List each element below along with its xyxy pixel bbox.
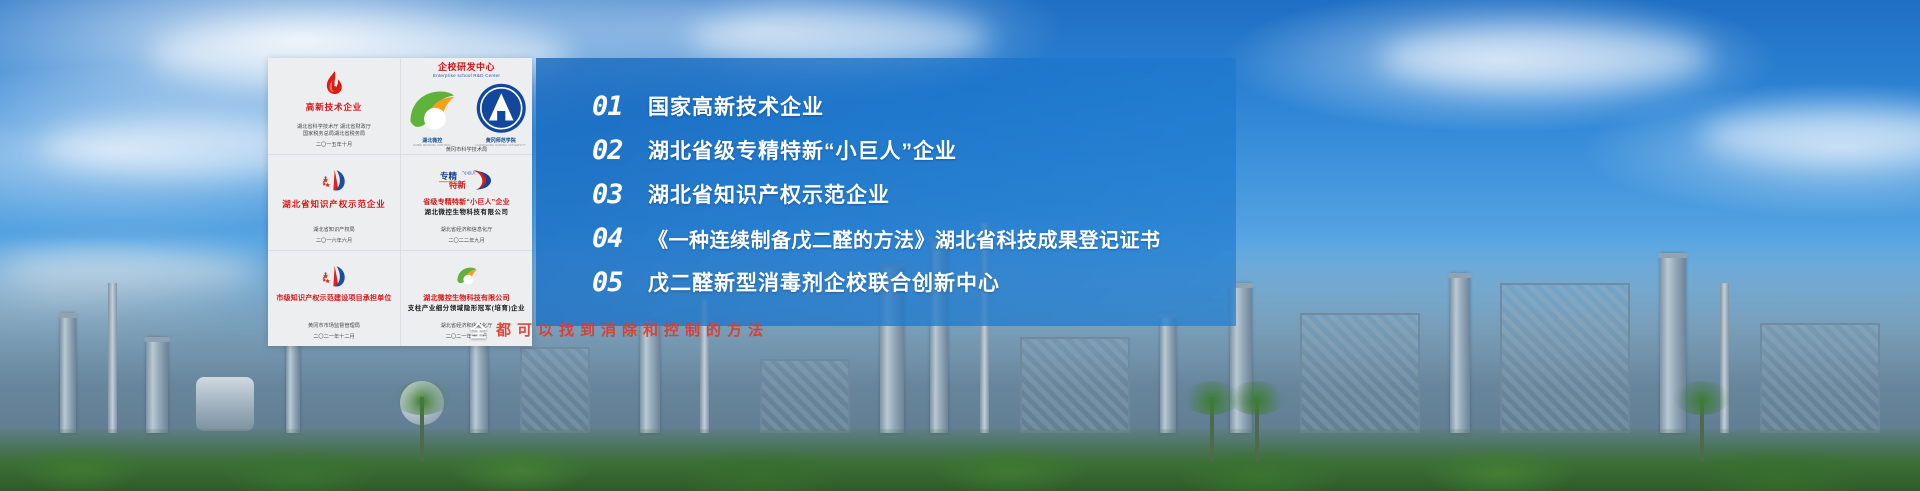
certificate-subtitle: 湖北微控生物科技有限公司 (425, 209, 509, 218)
honor-item-03[interactable]: 03 湖北省知识产权示范企业 (592, 172, 1226, 216)
honor-label: 国家高新技术企业 (648, 91, 824, 121)
pipe-rack (1020, 337, 1130, 433)
certificate-title: 湖北微控生物科技有限公司 (423, 295, 509, 304)
honors-panel: 01 国家高新技术企业 02 湖北省级专精特新“小巨人”企业 03 湖北省知识产… (536, 58, 1236, 326)
honor-item-01[interactable]: 01 国家高新技术企业 (592, 84, 1226, 128)
smoke-stack (1720, 283, 1729, 433)
huanggang-normal-university-caption: 黄冈师范学院 (474, 137, 529, 144)
distillation-tower (1450, 273, 1470, 433)
intellectual-property-icon (319, 163, 349, 197)
honor-number: 03 (592, 181, 648, 208)
certificate-date: 二〇二一年十二月 (313, 334, 355, 342)
honor-label: 湖北省级专精特新“小巨人”企业 (648, 135, 957, 165)
hubei-weikong-logo-icon (455, 259, 479, 293)
cloud-wisp (1380, 28, 1710, 88)
certificate-card-city-ip-project[interactable]: 市级知识产权示范建设项目承担单位 黄冈市市场监督管理局 二〇二一年十二月 (268, 250, 400, 346)
certificate-title: 市级知识产权示范建设项目承担单位 (276, 295, 391, 304)
huanggang-normal-university-icon (474, 81, 529, 136)
distillation-tower (60, 313, 76, 433)
certificate-title: 湖北省知识产权示范企业 (282, 199, 385, 210)
honor-item-02[interactable]: 02 湖北省级专精特新“小巨人”企业 (592, 128, 1226, 172)
promo-banner: 高新技术企业 湖北省科学技术厅 湖北省财政厅 国家税务总局湖北省税务局 二〇一五… (0, 0, 1920, 491)
high-tech-flame-icon (321, 66, 347, 100)
palm-tree (1700, 397, 1704, 461)
certificate-issuer: 黄冈市市场监督管理局 (308, 323, 360, 334)
honor-number: 02 (592, 137, 648, 164)
distillation-tower (146, 337, 168, 433)
honor-number: 05 (592, 269, 648, 296)
svg-text:"小巨人": "小巨人" (462, 170, 478, 176)
certificate-issuer: 湖北省知识产权局 (313, 227, 355, 238)
honor-number: 04 (592, 225, 648, 252)
certificate-card-ip-model[interactable]: 湖北省知识产权示范企业 湖北省知识产权局 二〇一六年六月 (268, 154, 400, 250)
pipe-rack (1300, 313, 1420, 433)
certificate-date: 二〇一五年十月 (316, 142, 352, 150)
storage-tank (196, 377, 254, 431)
certificate-grid: 高新技术企业 湖北省科学技术厅 湖北省财政厅 国家税务总局湖北省税务局 二〇一五… (268, 58, 532, 346)
pipe-rack (1500, 283, 1630, 433)
palm-tree (1210, 397, 1214, 461)
certificate-subtitle: 支柱产业细分领域隐形冠军(培育)企业 (408, 305, 525, 314)
vegetation-row (0, 429, 1920, 491)
honor-item-04[interactable]: 04 《一种连续制备戊二醛的方法》湖北省科技成果登记证书 (592, 216, 1226, 260)
rd-center-title: 企校研发中心 (438, 63, 495, 72)
pipe-rack (760, 359, 850, 433)
rd-center-logo-row: 湖北微控 HUBEI MICROAL CONTROL 黄冈师范学院 HUANGG… (405, 81, 528, 147)
certificate-card-high-tech[interactable]: 高新技术企业 湖北省科学技术厅 湖北省财政厅 国家税务总局湖北省税务局 二〇一五… (268, 58, 400, 154)
svg-text:专精: 专精 (440, 171, 458, 182)
certificate-card-little-giant[interactable]: 专精 特新 "小巨人" 省级专精特新“小巨人”企业 湖北微控生物科技有限公司 湖… (400, 154, 532, 250)
honors-list: 01 国家高新技术企业 02 湖北省级专精特新“小巨人”企业 03 湖北省知识产… (592, 84, 1226, 304)
palm-tree (420, 397, 424, 461)
certificate-issuer: 湖北省经济和信息化厅 (441, 227, 493, 238)
certificate-issuer: 黄冈市科学技术局 (446, 147, 488, 155)
pipe-rack (1760, 323, 1880, 433)
intellectual-property-icon (319, 259, 349, 293)
certificate-date: 二〇一六年六月 (316, 238, 352, 246)
specialized-new-little-giant-icon: 专精 特新 "小巨人" (438, 163, 496, 197)
honor-item-05[interactable]: 05 戊二醛新型消毒剂企校联合创新中心 (592, 260, 1226, 304)
rd-center-title-en: Enterprise school R&D Center (433, 73, 500, 78)
palm-tree (1255, 397, 1259, 461)
certificate-card-rd-center[interactable]: 企校研发中心 Enterprise school R&D Center 湖北微控… (400, 58, 532, 154)
certificate-date: 二〇二二年九月 (448, 238, 484, 246)
hubei-weikong-green-icon (405, 86, 460, 135)
certificate-title: 省级专精特新“小巨人”企业 (423, 199, 510, 208)
slogan-body: 都可以找到消除和控制的方法 (496, 319, 769, 340)
certificate-title: 高新技术企业 (306, 102, 362, 113)
honor-number: 01 (592, 93, 648, 120)
slogan-lead: 全 (470, 317, 488, 342)
hubei-weikong-caption: 湖北微控 (405, 137, 460, 144)
honor-label: 戊二醛新型消毒剂企校联合创新中心 (648, 267, 1000, 297)
honor-label: 湖北省知识产权示范企业 (648, 179, 890, 209)
slogan-strip: 全 都可以找到消除和控制的方法 (470, 318, 1170, 340)
pipe-rack (520, 347, 590, 433)
certificate-issuer: 湖北省科学技术厅 湖北省财政厅 国家税务总局湖北省税务局 (297, 124, 371, 143)
honor-label: 《一种连续制备戊二醛的方法》湖北省科技成果登记证书 (648, 224, 1161, 253)
smoke-stack (108, 283, 117, 433)
